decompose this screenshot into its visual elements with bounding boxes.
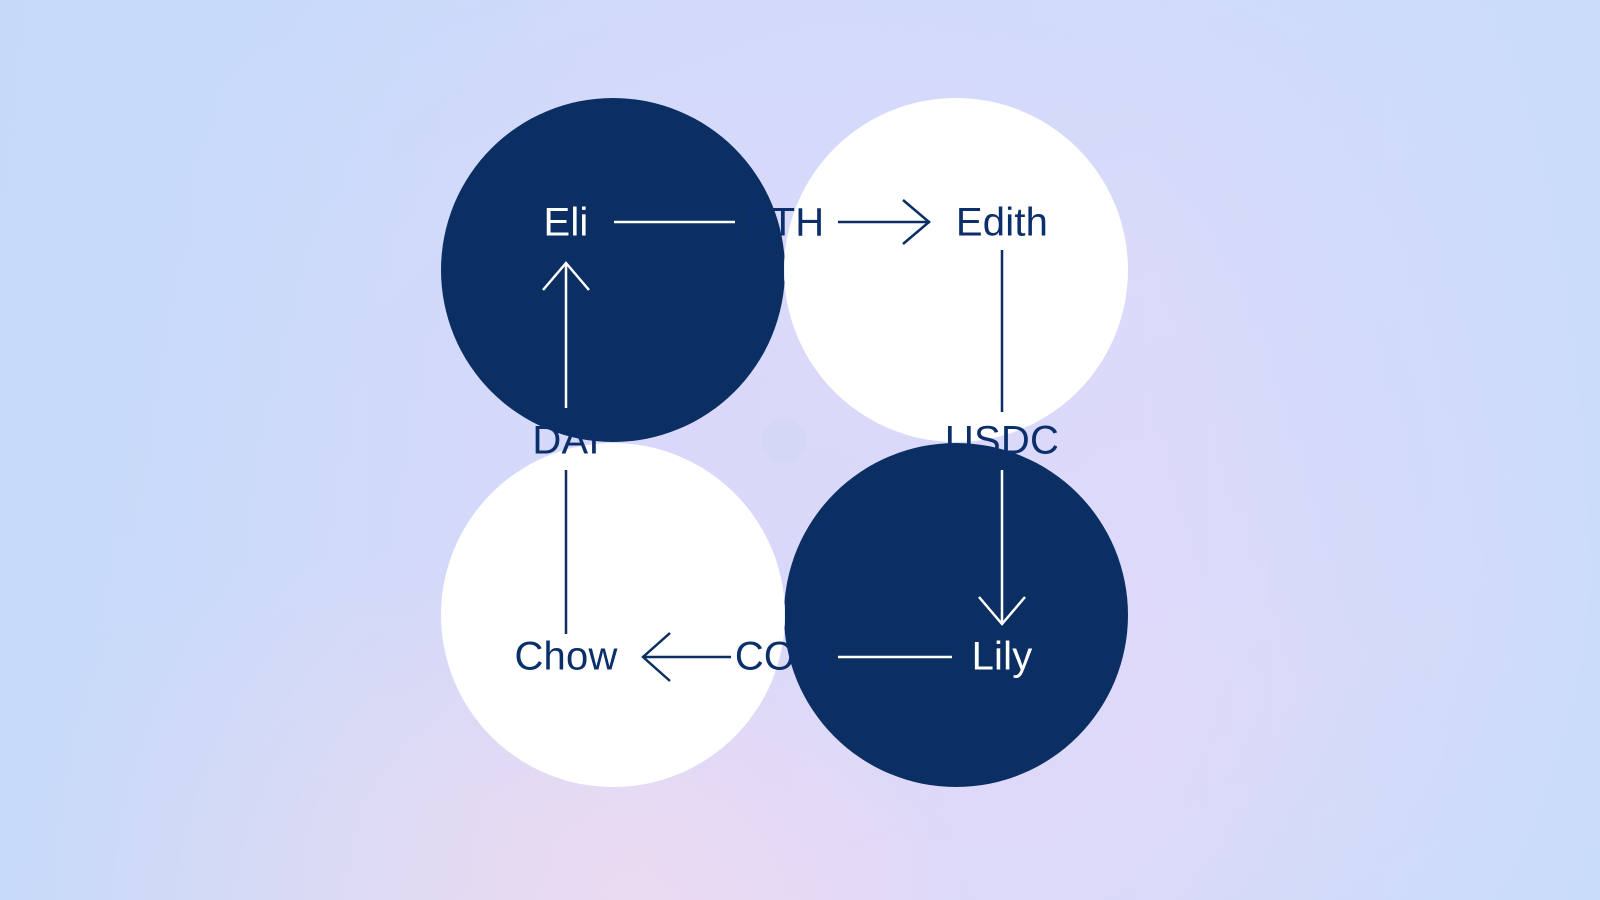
node-label-lily[interactable]: Lily	[972, 635, 1033, 680]
node-label-edith[interactable]: Edith	[956, 201, 1048, 246]
diagram-canvas: Eli ETH Edith DAI USDC Chow COW Lily	[0, 0, 1600, 900]
node-label-usdc[interactable]: USDC	[945, 419, 1059, 464]
node-label-chow[interactable]: Chow	[514, 635, 617, 680]
node-label-eli[interactable]: Eli	[543, 201, 588, 246]
node-label-dai[interactable]: DAI	[532, 419, 599, 464]
node-label-cow[interactable]: COW	[735, 635, 833, 680]
circle-bottom-left	[441, 443, 785, 787]
node-label-eth[interactable]: ETH	[744, 201, 825, 246]
circle-top-left	[441, 98, 785, 442]
circle-bottom-right	[784, 443, 1128, 787]
circle-top-right	[784, 98, 1128, 442]
venn-diagram	[0, 0, 1600, 900]
center-intersection-dot	[762, 419, 806, 463]
